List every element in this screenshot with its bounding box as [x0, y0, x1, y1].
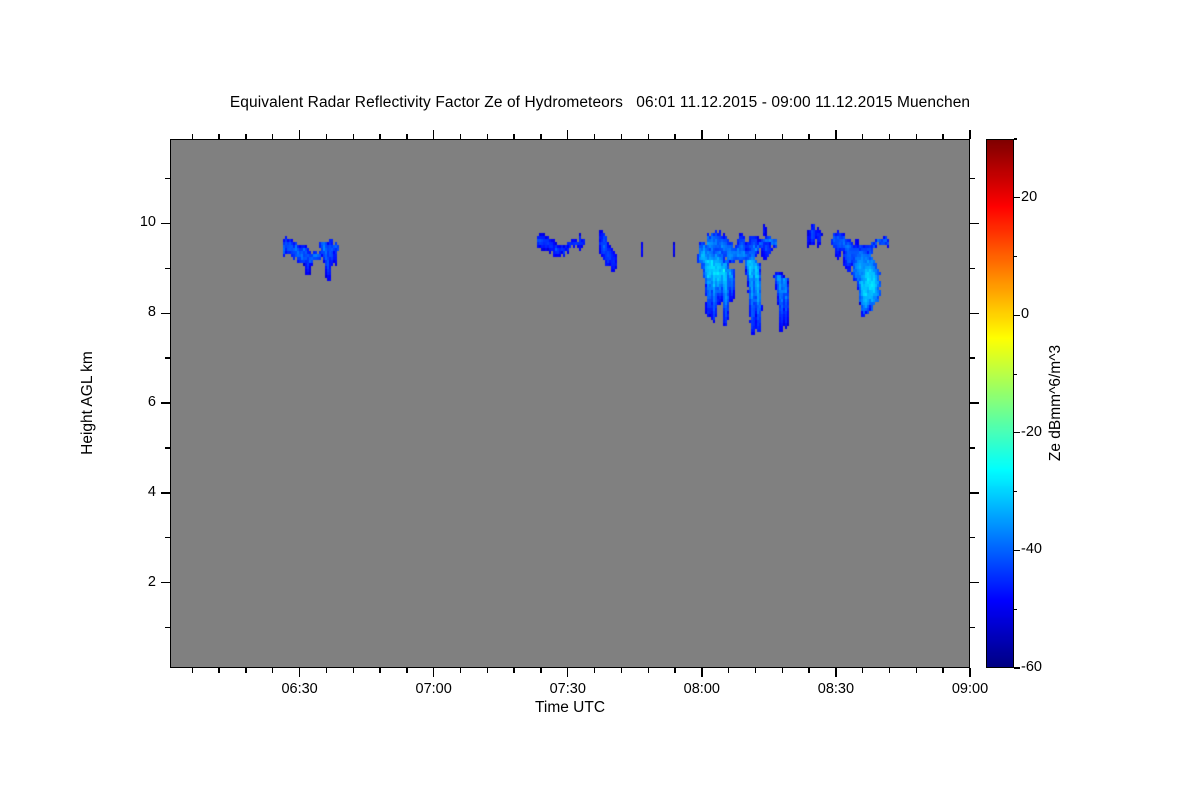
- x-minor-tick-top: [326, 134, 327, 139]
- y-major-tick: [161, 223, 170, 224]
- x-minor-tick: [379, 668, 380, 673]
- x-minor-tick: [406, 668, 407, 673]
- x-minor-tick-top: [916, 134, 917, 139]
- colorbar-tick-label-2: -20: [1021, 424, 1042, 440]
- x-axis-label: Time UTC: [170, 699, 970, 717]
- y-minor-tick-right: [970, 268, 975, 269]
- x-minor-tick: [728, 668, 729, 673]
- x-minor-tick: [755, 668, 756, 673]
- x-minor-tick: [487, 668, 488, 673]
- y-minor-tick: [165, 627, 170, 628]
- x-minor-tick-top: [460, 134, 461, 139]
- colorbar-minor-tick: [1014, 138, 1017, 139]
- y-minor-tick: [165, 447, 170, 448]
- y-tick-label-1: 4: [116, 484, 156, 500]
- reflectivity-heatmap-canvas: [171, 140, 970, 668]
- y-major-tick-right: [970, 313, 979, 314]
- x-minor-tick: [353, 668, 354, 673]
- x-minor-tick: [513, 668, 514, 673]
- y-tick-label-4: 10: [116, 214, 156, 230]
- x-minor-tick-top: [862, 134, 863, 139]
- x-major-tick-top: [567, 130, 568, 139]
- colorbar-minor-tick: [1014, 374, 1017, 375]
- x-minor-tick: [942, 668, 943, 673]
- y-major-tick: [161, 313, 170, 314]
- x-minor-tick-top: [728, 134, 729, 139]
- x-minor-tick: [218, 668, 219, 673]
- y-minor-tick: [165, 268, 170, 269]
- x-minor-tick-top: [755, 134, 756, 139]
- colorbar-major-tick: [1014, 550, 1020, 551]
- x-minor-tick-top: [192, 134, 193, 139]
- x-minor-tick-top: [942, 134, 943, 139]
- y-minor-tick: [165, 178, 170, 179]
- x-minor-tick: [326, 668, 327, 673]
- y-major-tick-right: [970, 223, 979, 224]
- x-minor-tick: [648, 668, 649, 673]
- page-title: Equivalent Radar Reflectivity Factor Ze …: [0, 94, 1200, 112]
- y-minor-tick-right: [970, 627, 975, 628]
- colorbar-major-tick: [1014, 315, 1020, 316]
- colorbar-tick-label-0: 20: [1021, 189, 1037, 205]
- x-minor-tick: [916, 668, 917, 673]
- x-tick-label-2: 07:30: [528, 681, 608, 697]
- colorbar-minor-tick: [1014, 491, 1017, 492]
- colorbar-minor-tick: [1014, 609, 1017, 610]
- x-minor-tick-top: [245, 134, 246, 139]
- colorbar-tick-label-1: 0: [1021, 306, 1029, 322]
- y-minor-tick-right: [970, 447, 975, 448]
- y-minor-tick-right: [970, 178, 975, 179]
- x-tick-label-1: 07:00: [394, 681, 474, 697]
- colorbar-minor-tick: [1014, 256, 1017, 257]
- x-minor-tick-top: [406, 134, 407, 139]
- y-major-tick: [161, 402, 170, 403]
- y-major-tick: [161, 492, 170, 493]
- y-major-tick-right: [970, 492, 979, 493]
- x-minor-tick-top: [621, 134, 622, 139]
- x-major-tick-top: [701, 130, 702, 139]
- y-tick-label-3: 8: [116, 304, 156, 320]
- y-major-tick: [161, 582, 170, 583]
- x-major-tick: [835, 668, 836, 677]
- x-minor-tick: [540, 668, 541, 673]
- y-minor-tick: [165, 357, 170, 358]
- x-minor-tick-top: [594, 134, 595, 139]
- x-minor-tick-top: [540, 134, 541, 139]
- x-major-tick-top: [835, 130, 836, 139]
- x-minor-tick-top: [782, 134, 783, 139]
- y-tick-label-0: 2: [116, 574, 156, 590]
- y-axis-label: Height AGL km: [79, 351, 97, 455]
- x-major-tick: [969, 668, 970, 677]
- x-minor-tick-top: [513, 134, 514, 139]
- y-tick-label-2: 6: [116, 394, 156, 410]
- x-minor-tick: [808, 668, 809, 673]
- plot-area: [170, 139, 970, 668]
- colorbar-major-tick: [1014, 197, 1020, 198]
- x-minor-tick-top: [648, 134, 649, 139]
- x-major-tick-top: [969, 130, 970, 139]
- x-tick-label-4: 08:30: [796, 681, 876, 697]
- colorbar-label: Ze dBmm^6/m^3: [1047, 345, 1065, 461]
- y-minor-tick: [165, 537, 170, 538]
- x-major-tick: [299, 668, 300, 677]
- x-tick-label-3: 08:00: [662, 681, 742, 697]
- x-minor-tick: [674, 668, 675, 673]
- y-major-tick-right: [970, 582, 979, 583]
- colorbar-major-tick: [1014, 432, 1020, 433]
- x-minor-tick: [889, 668, 890, 673]
- x-minor-tick-top: [674, 134, 675, 139]
- y-minor-tick-right: [970, 357, 975, 358]
- radar-reflectivity-figure: Equivalent Radar Reflectivity Factor Ze …: [0, 0, 1200, 800]
- x-major-tick: [433, 668, 434, 677]
- x-major-tick: [701, 668, 702, 677]
- x-major-tick-top: [433, 130, 434, 139]
- x-minor-tick: [272, 668, 273, 673]
- x-minor-tick-top: [218, 134, 219, 139]
- colorbar-tick-label-3: -40: [1021, 541, 1042, 557]
- x-tick-label-0: 06:30: [260, 681, 340, 697]
- colorbar-gradient: [987, 140, 1013, 667]
- x-minor-tick: [594, 668, 595, 673]
- colorbar: [986, 139, 1014, 668]
- x-minor-tick-top: [379, 134, 380, 139]
- x-minor-tick-top: [353, 134, 354, 139]
- x-minor-tick-top: [272, 134, 273, 139]
- x-minor-tick: [460, 668, 461, 673]
- x-minor-tick: [782, 668, 783, 673]
- x-minor-tick-top: [487, 134, 488, 139]
- colorbar-major-tick: [1014, 667, 1020, 668]
- colorbar-tick-label-4: -60: [1021, 659, 1042, 675]
- x-major-tick-top: [299, 130, 300, 139]
- x-major-tick: [567, 668, 568, 677]
- x-minor-tick: [245, 668, 246, 673]
- x-minor-tick: [192, 668, 193, 673]
- x-minor-tick-top: [889, 134, 890, 139]
- x-tick-label-5: 09:00: [930, 681, 1010, 697]
- x-minor-tick-top: [808, 134, 809, 139]
- x-minor-tick: [862, 668, 863, 673]
- x-minor-tick: [621, 668, 622, 673]
- y-minor-tick-right: [970, 537, 975, 538]
- y-major-tick-right: [970, 402, 979, 403]
